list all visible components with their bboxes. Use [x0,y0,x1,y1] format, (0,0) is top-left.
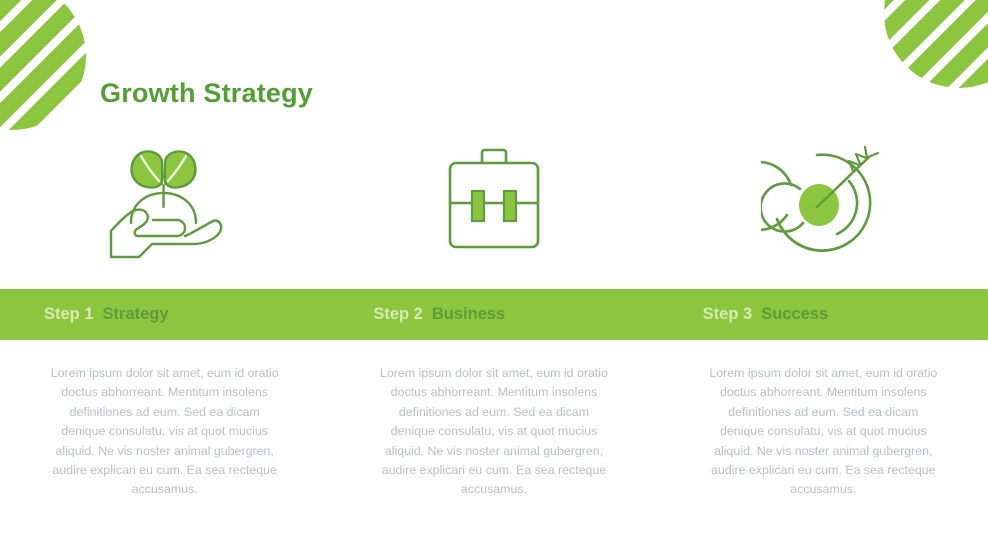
description-cell-3: Lorem ipsum dolor sit amet, eum id orati… [659,364,988,500]
striped-circle-top-right-icon [884,0,988,88]
step-title: Strategy [103,305,169,324]
striped-circle-top-left-icon [0,0,86,130]
page-title: Growth Strategy [100,78,313,109]
step-cell-3: Step 3 Success [659,289,988,340]
step-cell-1: Step 1 Strategy [0,289,329,340]
description-row: Lorem ipsum dolor sit amet, eum id orati… [0,364,988,500]
target-arrow-icon [761,141,885,261]
step-cell-2: Step 2 Business [329,289,658,340]
description-text: Lorem ipsum dolor sit amet, eum id orati… [51,364,279,500]
step-band: Step 1 Strategy Step 2 Business Step 3 S… [0,289,988,340]
step-title: Success [761,305,828,324]
description-cell-1: Lorem ipsum dolor sit amet, eum id orati… [0,364,329,500]
stripe-pattern [884,0,988,88]
icon-cell-success [659,136,988,266]
stripe-pattern [0,0,86,130]
slide-canvas: Growth Strategy [0,0,988,556]
description-cell-2: Lorem ipsum dolor sit amet, eum id orati… [329,364,658,500]
icon-cell-business [329,136,658,266]
hand-holding-sprout-icon [103,141,227,261]
step-title: Business [432,305,505,324]
icon-row [0,136,988,266]
description-text: Lorem ipsum dolor sit amet, eum id orati… [709,364,937,500]
step-number: Step 1 [44,305,94,324]
step-number: Step 3 [703,305,753,324]
description-text: Lorem ipsum dolor sit amet, eum id orati… [380,364,608,500]
briefcase-icon [432,141,556,261]
step-number: Step 2 [373,305,423,324]
icon-cell-strategy [0,136,329,266]
